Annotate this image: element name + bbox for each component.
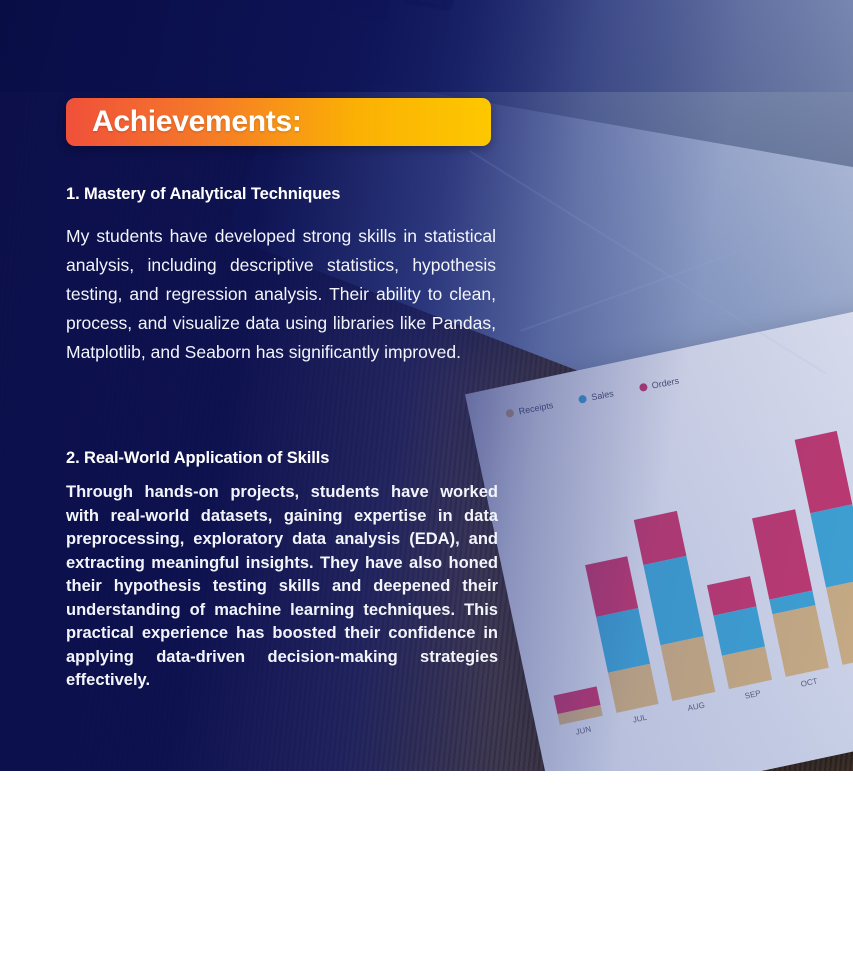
footer-bar: @SACS Computers (0, 771, 853, 960)
carousel-slide: FVBNMcommandoption ReceiptsSalesOrders J… (0, 0, 853, 960)
section-body-1: My students have developed strong skills… (66, 222, 496, 367)
section-heading-2: 2. Real-World Application of Skills (66, 449, 329, 468)
title-banner: Achievements: (66, 98, 491, 146)
section-heading-1: 1. Mastery of Analytical Techniques (66, 185, 340, 204)
slide-content: Achievements: 1. Mastery of Analytical T… (0, 0, 853, 771)
page-title: Achievements: (66, 105, 302, 139)
section-body-2: Through hands-on projects, students have… (66, 481, 498, 693)
